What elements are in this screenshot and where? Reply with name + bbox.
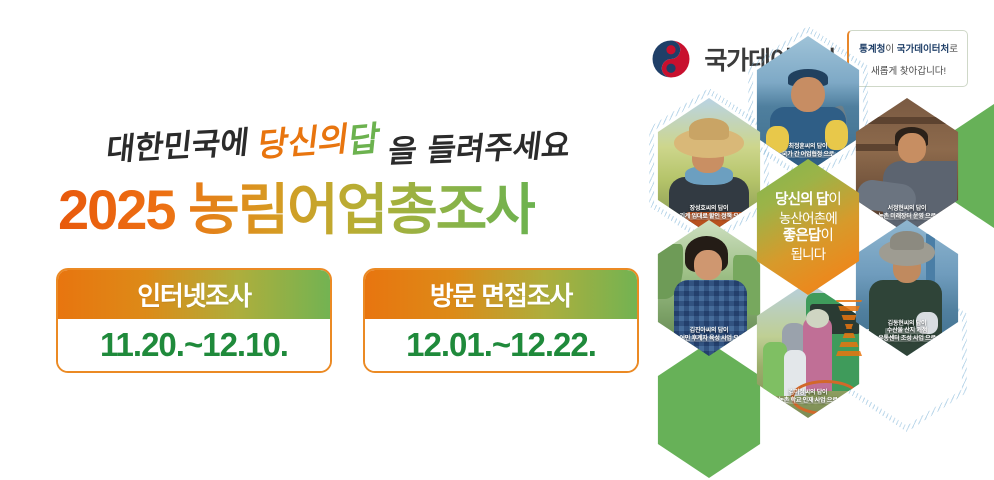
tagline-part-plain-2: 을 들려주세요 — [386, 128, 572, 170]
hex-caption-line1: 김진아씨의 답이 — [690, 328, 729, 334]
handwritten-tagline: 대한민국에 당신의 답 을 들려주세요 — [112, 118, 582, 176]
survey-box-visit-header: 방문 면접조사 — [365, 270, 637, 319]
hex-photo-craftsman-upper-right-caption: 서정현씨의 답이 농촌 미래장터 운영 으로 — [852, 206, 962, 222]
survey-box-internet-body: 11.20.~12.10. — [58, 319, 330, 371]
survey-period-boxes: 인터넷조사 11.20.~12.10. 방문 면접조사 12.01.~12.22… — [56, 268, 639, 373]
survey-box-visit-body: 12.01.~12.22. — [365, 319, 637, 371]
decorative-green-hexagon-bottom-left — [650, 342, 768, 478]
hex-caption-line2: 국가 간 어업협정 으로 — [780, 152, 836, 158]
survey-box-internet-label: 인터넷조사 — [137, 276, 251, 313]
hex-caption-line2: 농어민 후계자 육성 사업 으로 — [672, 336, 746, 342]
tagline-part-plain-1: 대한민국에 — [105, 125, 251, 168]
hexagon-photo-cluster: 최정훈씨의 답이 국가 간 어업협정 으로 장성호씨의 답이 농기계 임대료 할… — [622, 22, 994, 480]
hex-caption-line1: 서정현씨의 답이 — [888, 206, 927, 212]
hex-photo-greenhouse-lower-left[interactable]: 김진아씨의 답이 농어민 후계자 육성 사업 으로 — [650, 220, 768, 356]
hex-center-line-2: 농산어촌에 — [779, 210, 837, 227]
tagline-part-accent-2: 답 — [346, 119, 381, 162]
hex-caption-line2: 수산물 산지 거점 — [885, 328, 929, 334]
hex-caption-line3: 유통센터 조성 사업 으로 — [876, 336, 938, 342]
hex-center-line-3: 좋은답이 — [783, 227, 833, 246]
hex-photo-family-bottom-caption: 김미정씨의 답이 농촌 학교 인재 사업 으로 — [753, 390, 863, 406]
hex-center-line-3-strong: 좋은답 — [783, 228, 821, 244]
hex-caption-line2: 농촌 미래장터 운영 으로 — [876, 214, 938, 220]
survey-box-internet[interactable]: 인터넷조사 11.20.~12.10. — [56, 268, 332, 373]
survey-box-visit-label: 방문 면접조사 — [430, 276, 572, 313]
survey-box-internet-header: 인터넷조사 — [58, 270, 330, 319]
hex-center-line-3-tail: 이 — [821, 228, 834, 244]
survey-box-internet-period: 11.20.~12.10. — [100, 326, 288, 364]
hero-left-column: 대한민국에 당신의 답 을 들려주세요 2025 농림어업총조사 인터넷조사 1… — [0, 0, 640, 480]
hex-center-line-1-strong: 당신의 답 — [775, 192, 828, 208]
tagline-part-accent-1: 당신의 — [256, 119, 352, 164]
page-title: 2025 농림어업총조사 — [58, 182, 535, 238]
hex-caption-line1: 최정훈씨의 답이 — [789, 144, 828, 150]
hex-center-line-1-tail: 이 — [828, 192, 841, 208]
survey-box-visit[interactable]: 방문 면접조사 12.01.~12.22. — [363, 268, 639, 373]
hex-caption-line1: 김동현씨의 답이 — [888, 321, 927, 327]
hex-caption-line1: 김미정씨의 답이 — [789, 390, 828, 396]
hex-photo-fisherman-lower-right-caption: 김동현씨의 답이 수산물 산지 거점 유통센터 조성 사업 으로 — [852, 321, 962, 344]
hex-caption-line2: 농촌 학교 인재 사업 으로 — [776, 398, 839, 404]
survey-box-visit-period: 12.01.~12.22. — [406, 326, 596, 364]
hex-caption-line1: 장성호씨의 답이 — [690, 206, 729, 212]
hex-center-line-4: 됩니다 — [791, 246, 826, 263]
hex-photo-fisherman-lower-right[interactable]: 김동현씨의 답이 수산물 산지 거점 유통센터 조성 사업 으로 — [848, 220, 966, 356]
hex-photo-greenhouse-lower-left-caption: 김진아씨의 답이 농어민 후계자 육성 사업 으로 — [654, 328, 764, 344]
hex-caption-line2: 농기계 임대료 할인 정책 으로 — [672, 214, 746, 220]
hex-center-line-1: 당신의 답이 — [775, 191, 841, 210]
